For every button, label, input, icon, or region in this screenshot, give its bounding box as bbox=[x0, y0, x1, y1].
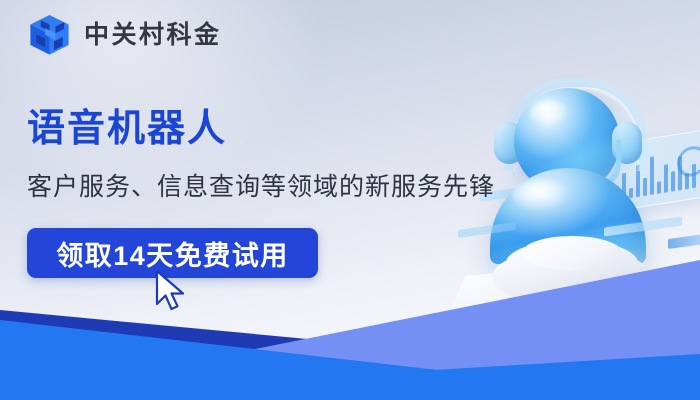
page-subtitle: 客户服务、信息查询等领域的新服务先锋 bbox=[27, 172, 495, 202]
pedestal-ring bbox=[522, 236, 622, 270]
brand-name: 中关村科金 bbox=[84, 23, 222, 48]
floating-bar bbox=[668, 233, 700, 249]
brand-logo[interactable]: 中关村科金 bbox=[26, 12, 222, 59]
body-highlight bbox=[512, 180, 570, 212]
isometric-cube-logo-icon bbox=[26, 12, 73, 59]
promo-banner: 中关村科金 bbox=[0, 0, 700, 400]
mouse-pointer-icon bbox=[152, 268, 192, 314]
page-title: 语音机器人 bbox=[27, 110, 227, 148]
head-highlight bbox=[530, 100, 570, 126]
